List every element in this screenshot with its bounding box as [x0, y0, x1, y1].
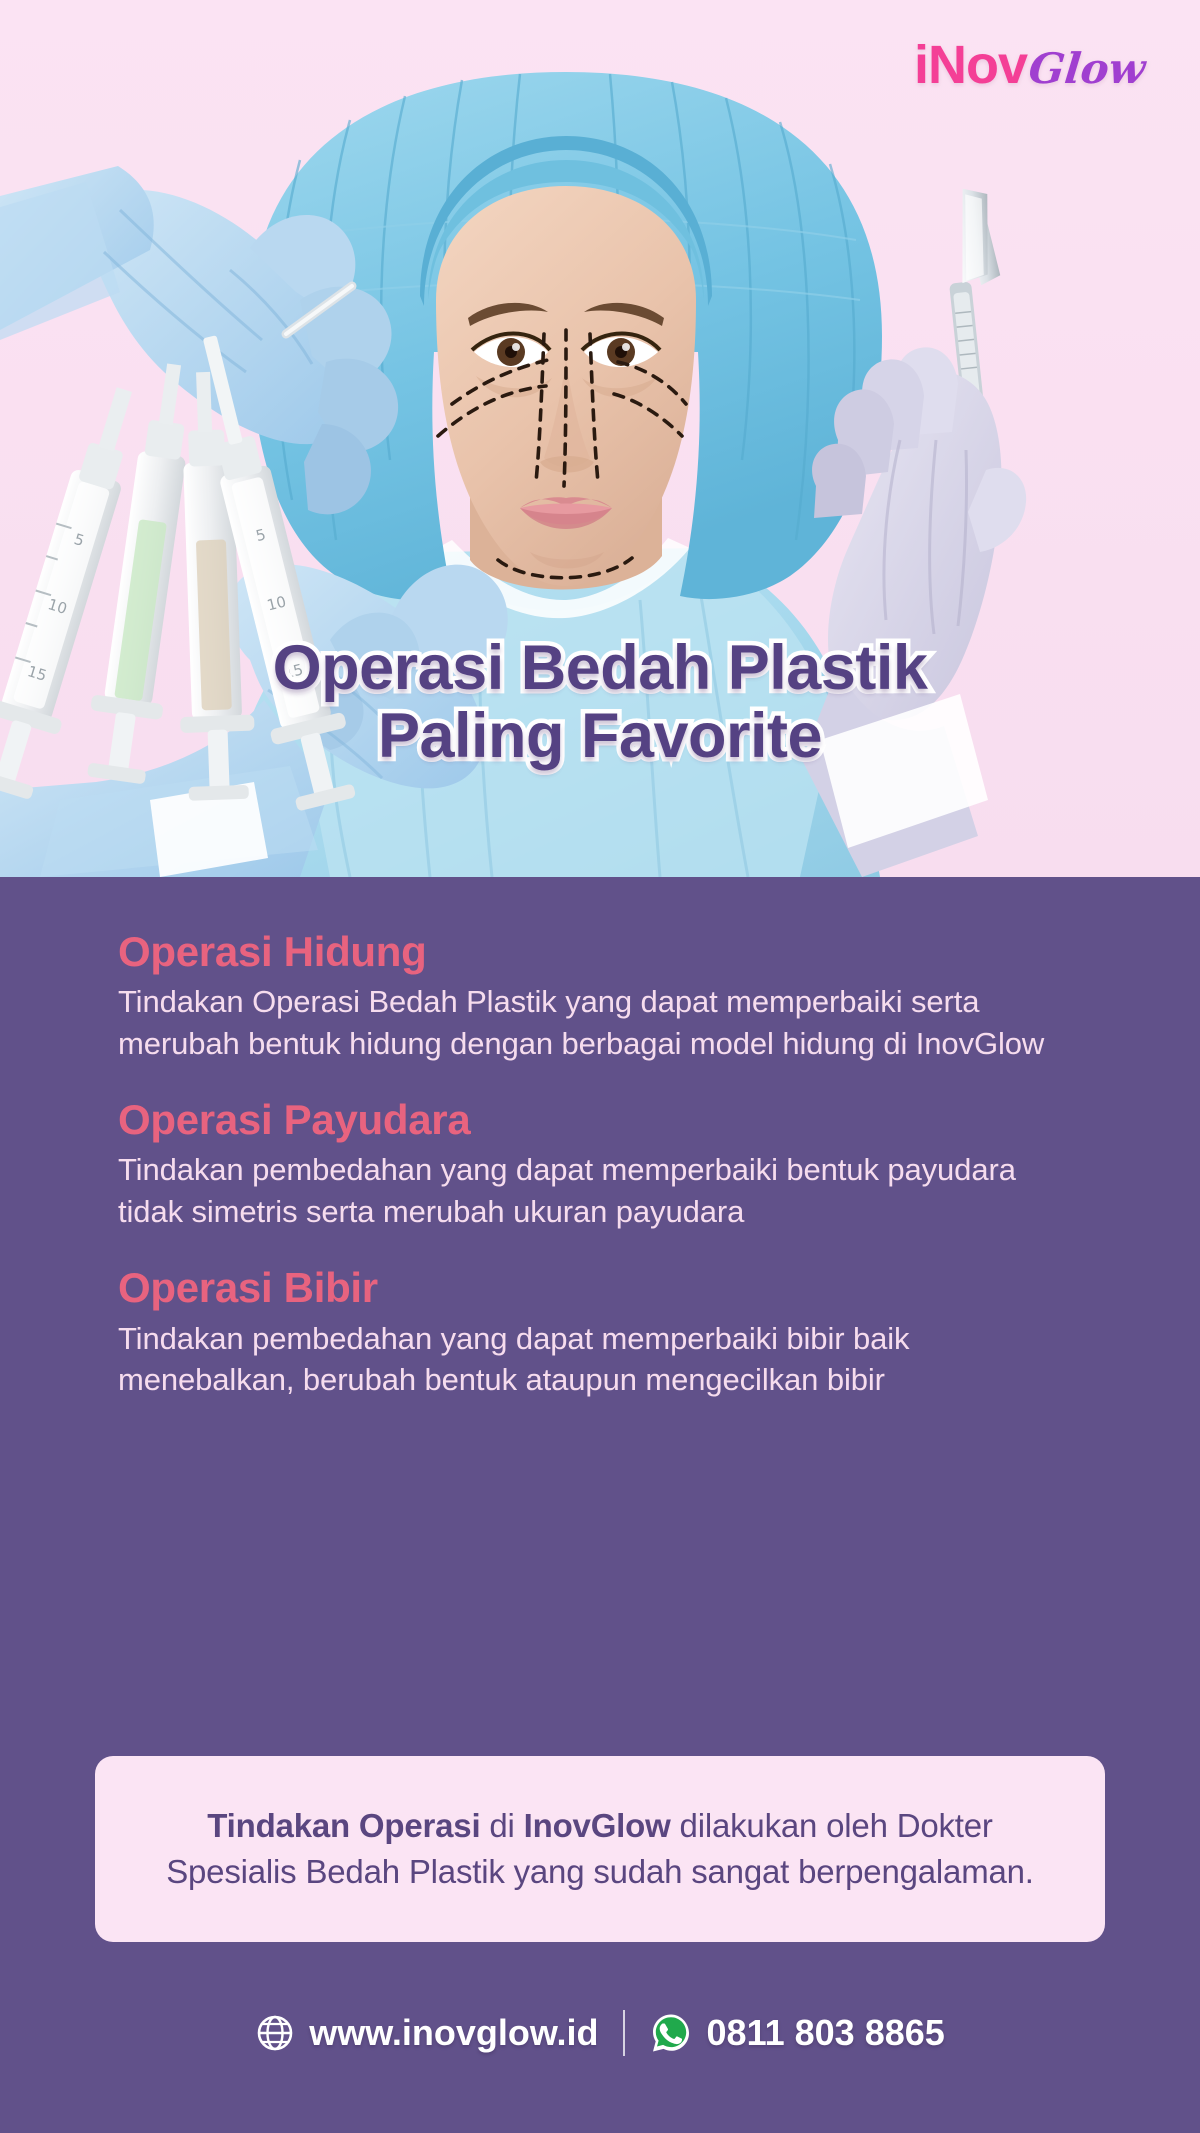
- service-description: Tindakan pembedahan yang dapat memperbai…: [118, 1318, 1078, 1402]
- logo-inov-text: iNov: [914, 38, 1027, 92]
- headline-line-2: Paling Favorite: [40, 703, 1160, 769]
- footer-contact: www.inovglow.id 0811 803 8865: [0, 2010, 1200, 2056]
- service-description: Tindakan Operasi Bedah Plastik yang dapa…: [118, 981, 1078, 1065]
- hero-headline: Operasi Bedah Plastik Paling Favorite: [0, 635, 1200, 769]
- whatsapp-icon: [649, 2011, 693, 2055]
- service-description: Tindakan pembedahan yang dapat memperbai…: [118, 1149, 1078, 1233]
- hero-section: 51015: [0, 0, 1200, 877]
- footer-divider: [623, 2010, 625, 2056]
- service-title: Operasi Bibir: [118, 1263, 1078, 1313]
- service-item-payudara: Operasi Payudara Tindakan pembedahan yan…: [118, 1095, 1078, 1233]
- service-list: Operasi Hidung Tindakan Operasi Bedah Pl…: [118, 927, 1078, 1401]
- callout-box: Tindakan Operasi di InovGlow dilakukan o…: [95, 1756, 1105, 1942]
- phone-text: 0811 803 8865: [707, 2012, 945, 2054]
- brand-logo: iNov Glow: [914, 38, 1145, 92]
- callout-text: Tindakan Operasi di InovGlow dilakukan o…: [141, 1803, 1059, 1895]
- globe-icon: [255, 2013, 295, 2053]
- logo-glow-text: Glow: [1027, 48, 1147, 90]
- service-title: Operasi Payudara: [118, 1095, 1078, 1145]
- callout-bold-1: Tindakan Operasi: [207, 1807, 480, 1844]
- footer-website[interactable]: www.inovglow.id: [255, 2012, 598, 2054]
- website-text: www.inovglow.id: [309, 2012, 598, 2054]
- callout-mid-1: di: [480, 1807, 523, 1844]
- footer-whatsapp[interactable]: 0811 803 8865: [649, 2011, 945, 2055]
- poster-root: 51015: [0, 0, 1200, 2133]
- service-item-bibir: Operasi Bibir Tindakan pembedahan yang d…: [118, 1263, 1078, 1401]
- headline-line-1: Operasi Bedah Plastik: [40, 635, 1160, 701]
- callout-bold-2: InovGlow: [524, 1807, 671, 1844]
- service-title: Operasi Hidung: [118, 927, 1078, 977]
- service-item-hidung: Operasi Hidung Tindakan Operasi Bedah Pl…: [118, 927, 1078, 1065]
